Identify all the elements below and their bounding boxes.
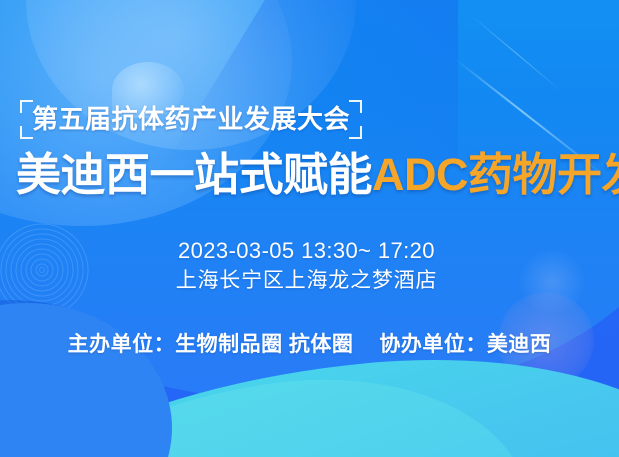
bracket-corner-top-right-icon	[349, 100, 362, 113]
event-meta: 2023-03-05 13:30~ 17:20 上海长宁区上海龙之梦酒店	[0, 236, 619, 296]
poster-headline: 美迪西一站式赋能ADC药物开发	[16, 152, 619, 197]
headline-lead: 美迪西一站式赋能	[16, 149, 372, 200]
bracket-corner-bottom-right-icon	[349, 126, 362, 139]
event-datetime: 2023-03-05 13:30~ 17:20	[0, 236, 613, 266]
organizer-label: 主办单位：	[68, 333, 176, 356]
event-venue: 上海长宁区上海龙之梦酒店	[0, 266, 613, 296]
bracket-corner-top-left-icon	[20, 100, 33, 113]
organizer-line: 主办单位：生物制品圈 抗体圈协办单位：美迪西	[0, 328, 619, 358]
co-organizer-value: 美迪西	[487, 333, 552, 356]
co-organizer-label: 协办单位：	[379, 333, 487, 356]
poster-content: 第五届抗体药产业发展大会 美迪西一站式赋能ADC药物开发 2023-03-05 …	[0, 0, 619, 457]
conference-name: 第五届抗体药产业发展大会	[32, 106, 350, 132]
event-poster: 第五届抗体药产业发展大会 美迪西一站式赋能ADC药物开发 2023-03-05 …	[0, 0, 619, 457]
bracket-corner-bottom-left-icon	[20, 126, 33, 139]
organizer-value: 生物制品圈 抗体圈	[175, 333, 353, 356]
headline-accent: ADC药物开发	[372, 149, 619, 200]
conference-name-badge: 第五届抗体药产业发展大会	[20, 100, 362, 139]
